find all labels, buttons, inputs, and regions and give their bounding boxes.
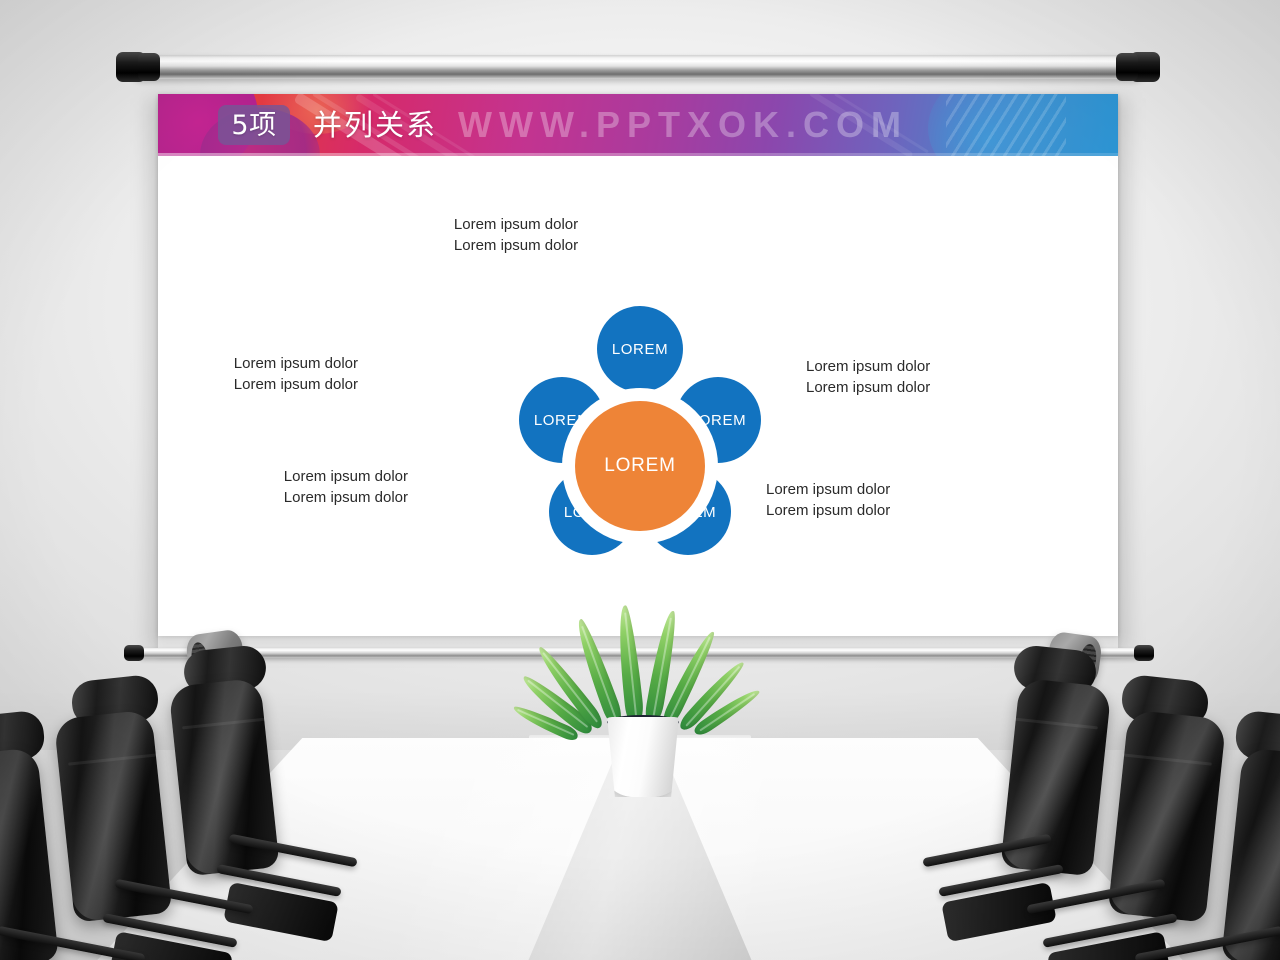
petal-top[interactable]: LOREM [597, 306, 683, 392]
caption-line: Lorem ipsum dolor [228, 466, 408, 487]
bottom-bar-cap-left [124, 645, 144, 661]
slide-body: Lorem ipsum dolor Lorem ipsum dolor Lore… [158, 156, 1118, 636]
caption-right: Lorem ipsum dolor Lorem ipsum dolor [806, 356, 986, 398]
slide-title: 并列关系 [313, 104, 437, 146]
caption-line: Lorem ipsum dolor [190, 374, 358, 395]
banner-streak [809, 94, 914, 156]
roller-tube [130, 55, 1146, 79]
chair-left-3[interactable] [0, 714, 160, 960]
center-circle[interactable]: LOREM [575, 401, 705, 531]
banner-hatch-pattern [946, 94, 1066, 156]
banner-blob-blue [928, 94, 1078, 156]
banner-streak [834, 94, 929, 153]
caption-line: Lorem ipsum dolor [416, 214, 616, 235]
bottom-bar-cap-right [1134, 645, 1154, 661]
caption-line: Lorem ipsum dolor [806, 356, 986, 377]
caption-line: Lorem ipsum dolor [190, 353, 358, 374]
potted-plant [563, 605, 723, 805]
slide-canvas: WWW.PPTXOK.COM 5项 并列关系 Lorem ipsum dolor… [158, 94, 1118, 636]
projection-screen[interactable]: WWW.PPTXOK.COM 5项 并列关系 Lorem ipsum dolor… [158, 94, 1118, 636]
screen-top-roller[interactable] [108, 52, 1168, 82]
plant-pot [604, 717, 682, 797]
banner-watermark: WWW.PPTXOK.COM [458, 102, 908, 148]
conference-room-scene: WWW.PPTXOK.COM 5项 并列关系 Lorem ipsum dolor… [0, 0, 1280, 960]
caption-bottom-left: Lorem ipsum dolor Lorem ipsum dolor [228, 466, 408, 508]
caption-top: Lorem ipsum dolor Lorem ipsum dolor [416, 214, 616, 256]
roller-end-cap-right-inner [1116, 53, 1138, 81]
caption-line: Lorem ipsum dolor [416, 235, 616, 256]
caption-line: Lorem ipsum dolor [228, 487, 408, 508]
slide-count-badge: 5项 [218, 105, 290, 145]
caption-line: Lorem ipsum dolor [806, 377, 986, 398]
roller-end-cap-left-inner [138, 53, 160, 81]
petal-cycle-diagram: LOREM LOREM LOREM LOREM LOREM LOREM [480, 306, 800, 626]
slide-banner: WWW.PPTXOK.COM 5项 并列关系 [158, 94, 1118, 156]
chair-right-3[interactable] [1120, 714, 1280, 960]
caption-left: Lorem ipsum dolor Lorem ipsum dolor [190, 353, 358, 395]
